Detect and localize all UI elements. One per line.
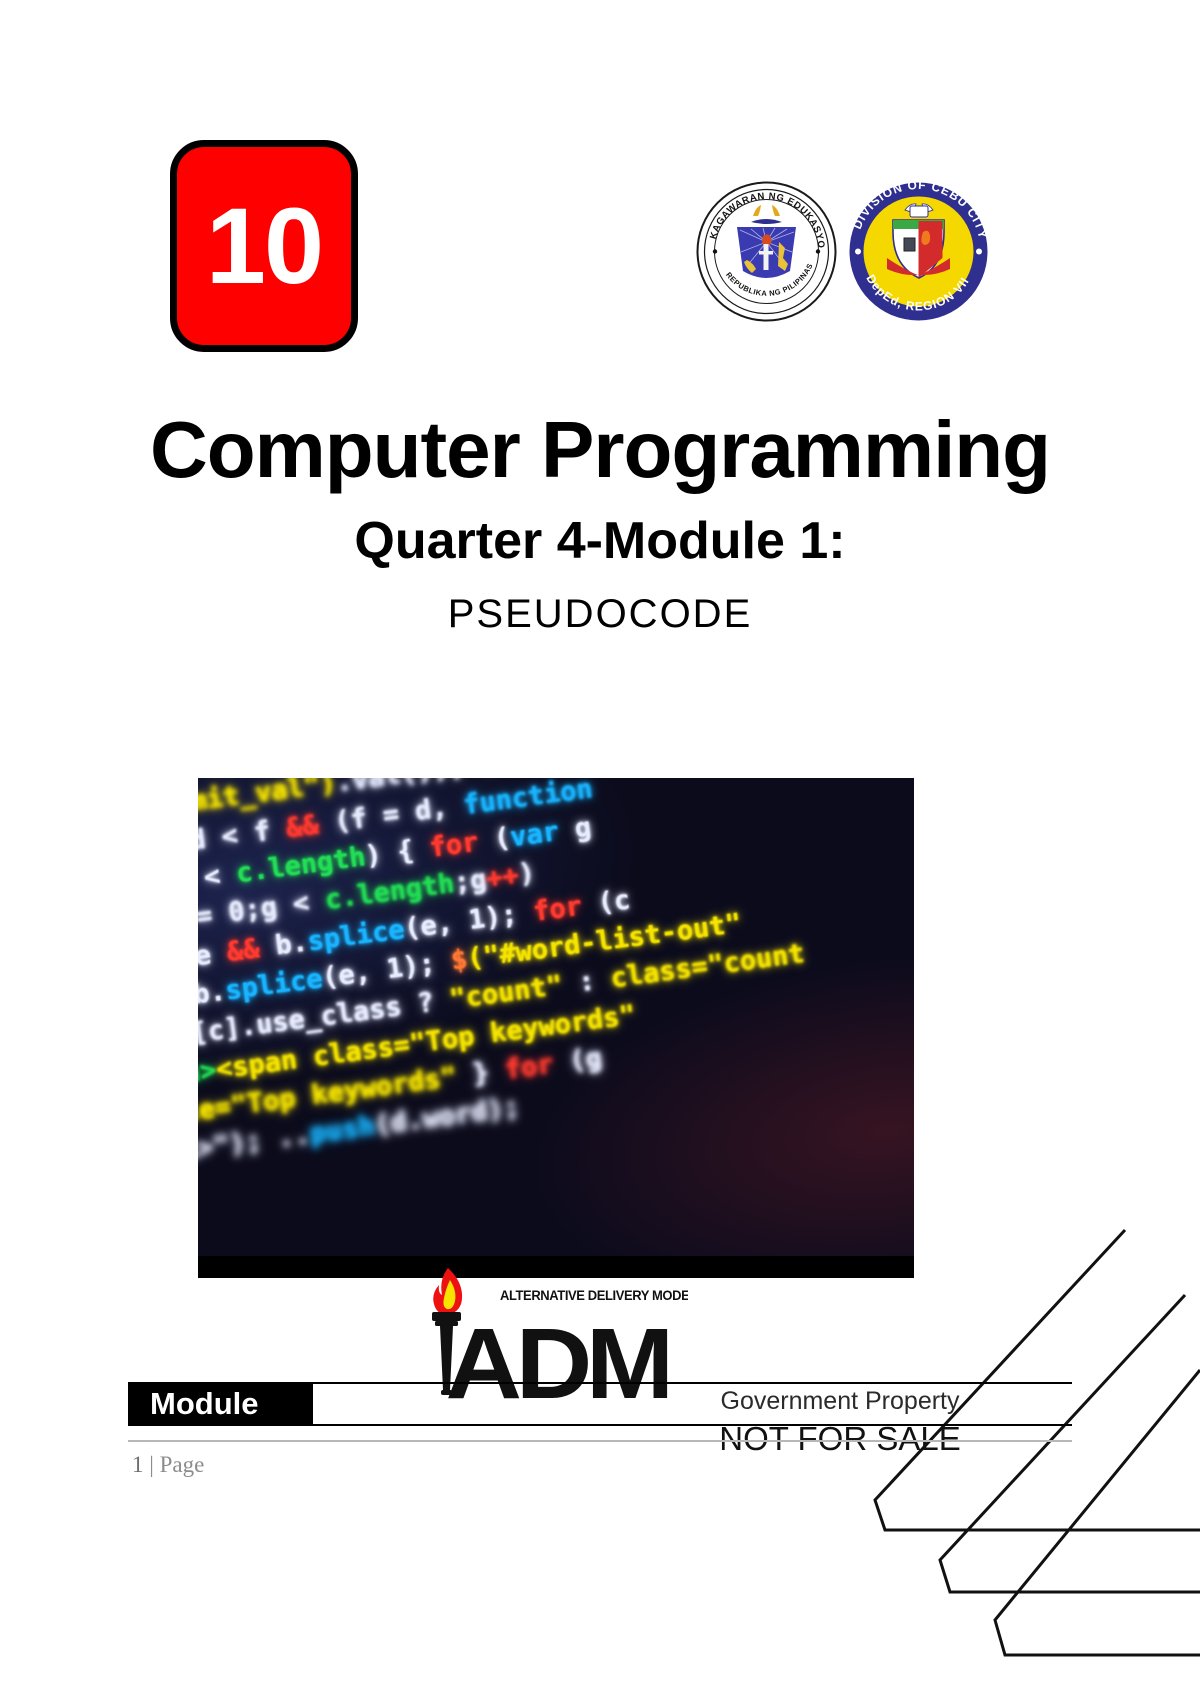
code-photo-lines: $("#word-list-out").html(" "); var b = c…	[198, 778, 914, 1278]
module-label: Module	[128, 1382, 313, 1426]
footer-page-number: 1	[132, 1452, 144, 1477]
module-cover-page: 10 KAGAWARAN NG EDUKASYON REPUBLIKA NG P…	[0, 0, 1200, 1698]
deped-seal-icon: KAGAWARAN NG EDUKASYON REPUBLIKA NG PILI…	[695, 180, 838, 323]
footer-separator: |	[144, 1452, 160, 1477]
code-screen-photo: $("#word-list-out").html(" "); var b = c…	[198, 778, 914, 1278]
footer-page-word: Page	[160, 1452, 205, 1477]
not-for-sale-line: NOT FOR SALE	[640, 1420, 1040, 1458]
division-of-cebu-city-seal-icon: DIVISION OF CEBU CITY DepEd, REGION VII	[847, 180, 990, 323]
page-footer: 1 | Page	[132, 1452, 204, 1478]
grade-level-badge: 10	[170, 140, 358, 352]
government-property-notice: Government Property NOT FOR SALE	[640, 1388, 1040, 1457]
module-topic-title: PSEUDOCODE	[0, 592, 1200, 636]
footer-divider	[128, 1440, 1072, 1442]
quarter-module-title: Quarter 4-Module 1:	[0, 513, 1200, 570]
cover-title-block: Computer Programming Quarter 4-Module 1:…	[0, 405, 1200, 636]
agency-seals: KAGAWARAN NG EDUKASYON REPUBLIKA NG PILI…	[695, 180, 1005, 330]
government-property-line1: Government Property	[640, 1388, 1040, 1416]
subject-title: Computer Programming	[0, 405, 1200, 495]
svg-text:ALTERNATIVE DELIVERY MODE: ALTERNATIVE DELIVERY MODE	[500, 1288, 688, 1303]
grade-level-number: 10	[206, 192, 322, 300]
